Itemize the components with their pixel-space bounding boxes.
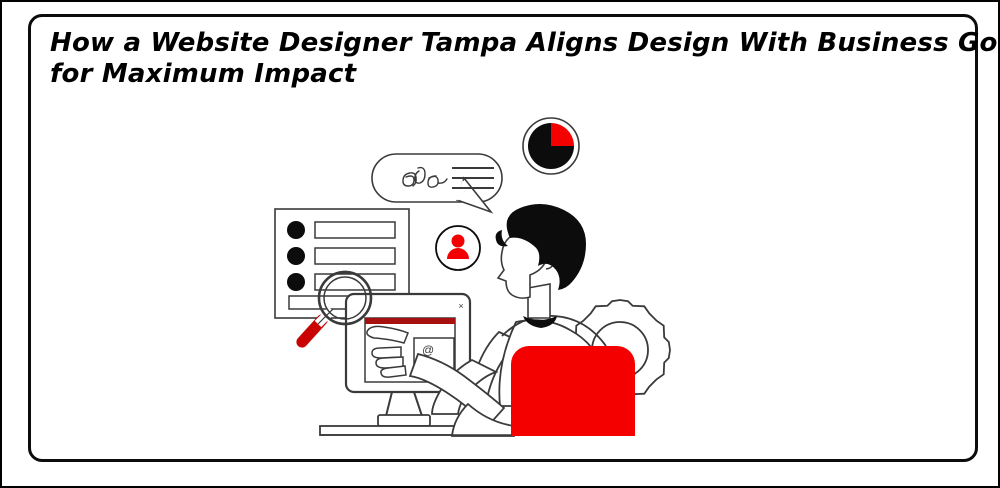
page-title-line-2: for Maximum Impact	[50, 59, 970, 90]
page-title-line-1: How a Website Designer Tampa Aligns Desi…	[50, 28, 970, 59]
screenshot-root: How a Website Designer Tampa Aligns Desi…	[0, 0, 1000, 488]
page-title: How a Website Designer Tampa Aligns Desi…	[50, 28, 970, 90]
